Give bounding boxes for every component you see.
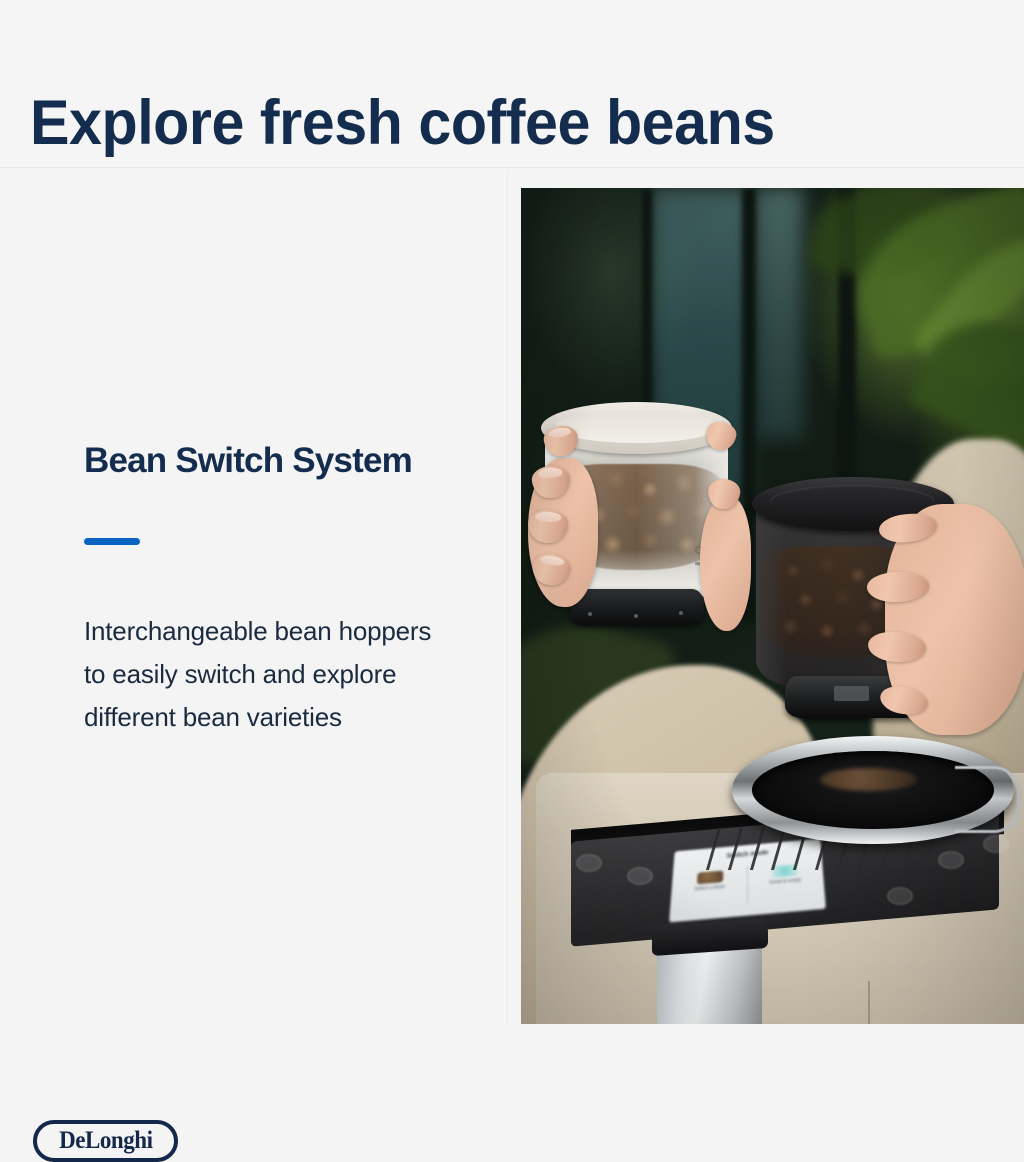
feature-text-column: Bean Switch System Interchangeable bean … [0, 169, 508, 1024]
delonghi-mark-icon [693, 545, 709, 567]
hopper-dark-roast-lid [752, 477, 953, 531]
hopper-dark-roast-collar [785, 676, 922, 718]
hopper-lid-recess [770, 485, 935, 517]
hopper-mount-ring [732, 736, 1014, 845]
page-header: Explore fresh coffee beans [0, 0, 1024, 168]
hopper-release-tab [834, 686, 870, 700]
window-pane-secondary-icon [757, 188, 802, 439]
machine-display-divider [747, 867, 748, 904]
hopper-dark-roast [752, 477, 953, 711]
hopper-light-roast-collar [570, 589, 704, 626]
beans-in-chute-icon [820, 768, 917, 791]
hopper-light-roast-lid [541, 402, 732, 454]
hopper-light-roast [541, 402, 732, 619]
coffee-beans-icon [697, 871, 723, 885]
page-title: Explore fresh coffee beans [30, 88, 775, 158]
machine-display-option-left-label: Select a bean [694, 885, 725, 894]
feature-description: Interchangeable bean hoppers to easily s… [84, 610, 444, 739]
touch-control-icon [627, 867, 653, 885]
product-photo: Switch mode Select a bean Grind & empty [521, 188, 1024, 1024]
accent-divider [84, 538, 140, 545]
machine-display-option-right-label: Grind & empty [769, 878, 801, 887]
delonghi-logo-text: DeLonghi [59, 1128, 152, 1153]
touch-control-icon [576, 854, 602, 872]
machine-body-seam [868, 981, 870, 1024]
ring-clip [955, 766, 1020, 833]
promo-page: Explore fresh coffee beans Bean Switch S… [0, 0, 1024, 1024]
machine-display-option-left: Select a bean [674, 869, 744, 896]
hopper-lid-recess [556, 410, 717, 442]
delonghi-logo: DeLonghi [33, 1120, 178, 1162]
feature-heading: Bean Switch System [84, 438, 414, 483]
